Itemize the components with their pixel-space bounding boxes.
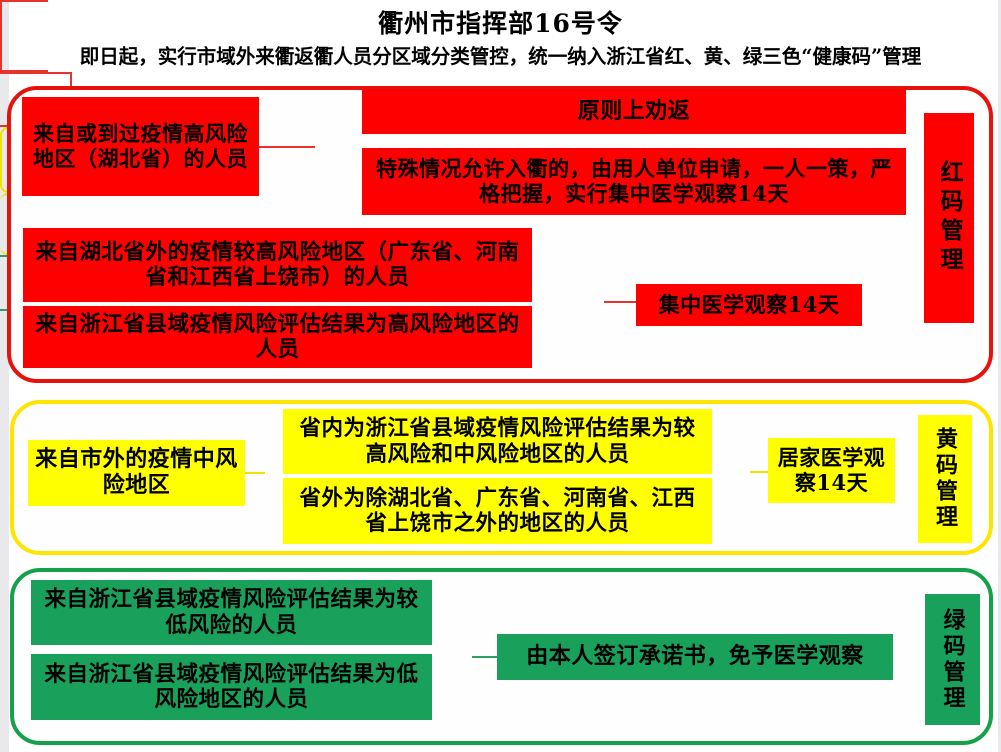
red-code-management-label: 红码管理 <box>932 160 966 276</box>
red-source-box-3: 来自浙江省县域疫情风险评估结果为高风险地区的人员 <box>23 306 532 368</box>
yellow-detail-box-1: 省内为浙江省县域疫情风险评估结果为较高风险和中风险地区的人员 <box>283 409 712 474</box>
infographic-canvas: 衢州市指挥部16号令 即日起，实行市域外来衢返衢人员分区域分类管控，统一纳入浙江… <box>0 0 1001 752</box>
yellow-detail-box-2: 省外为除湖北省、广东省、河南省、江西省上饶市之外的地区的人员 <box>283 478 712 544</box>
green-source-box-2: 来自浙江省县域疫情风险评估结果为低风险地区的人员 <box>31 654 432 720</box>
green-source-label-2: 来自浙江省县域疫情风险评估结果为低风险地区的人员 <box>37 662 426 713</box>
red-source-label-1: 来自或到过疫情高风险地区（湖北省）的人员 <box>28 122 253 172</box>
yellow-detail-label-2: 省外为除湖北省、广东省、河南省、江西省上饶市之外的地区的人员 <box>289 486 706 537</box>
green-measure-label-1: 由本人签订承诺书，免予医学观察 <box>526 644 864 670</box>
green-measure-box-1: 由本人签订承诺书，免予医学观察 <box>497 634 893 680</box>
yellow-source-box-1: 来自市外的疫情中风险地区 <box>28 440 245 506</box>
yellow-source-label-1: 来自市外的疫情中风险地区 <box>34 447 239 499</box>
yellow-connector-line-2 <box>750 471 768 473</box>
green-source-box-1: 来自浙江省县域疫情风险评估结果为较低风险的人员 <box>31 580 432 645</box>
red-source-box-2: 来自湖北省外的疫情较高风险地区（广东省、河南省和江西省上饶市）的人员 <box>23 228 532 302</box>
red-connector-line-2 <box>604 301 636 303</box>
yellow-code-management-box: 黄码管理 <box>918 415 972 543</box>
red-measure-label-3: 集中医学观察14天 <box>659 293 840 318</box>
yellow-connector-line-1 <box>245 472 265 474</box>
red-source-label-3: 来自浙江省县域疫情风险评估结果为高风险地区的人员 <box>29 312 526 363</box>
red-measure-box-3: 集中医学观察14天 <box>636 284 862 326</box>
green-connector-line-1 <box>472 656 497 658</box>
red-connector-line-1 <box>259 146 315 148</box>
green-code-management-label: 绿码管理 <box>937 608 969 712</box>
red-measure-box-2: 特殊情况允许入衢的，由用人单位申请，一人一策，严格把握，实行集中医学观察14天 <box>362 148 906 215</box>
page-subtitle: 即日起，实行市域外来衢返衢人员分区域分类管控，统一纳入浙江省红、黄、绿三色“健康… <box>0 40 1001 69</box>
green-code-management-box: 绿码管理 <box>925 594 980 725</box>
red-source-box-1: 来自或到过疫情高风险地区（湖北省）的人员 <box>22 97 259 196</box>
yellow-measure-label-1: 居家医学观察14天 <box>774 446 889 496</box>
red-measure-label-2: 特殊情况允许入衢的，由用人单位申请，一人一策，严格把握，实行集中医学观察14天 <box>368 157 900 207</box>
red-code-management-box: 红码管理 <box>924 113 974 323</box>
yellow-measure-box-1: 居家医学观察14天 <box>768 438 895 503</box>
red-source-label-2: 来自湖北省外的疫情较高风险地区（广东省、河南省和江西省上饶市）的人员 <box>29 240 526 291</box>
red-measure-label-1: 原则上劝返 <box>578 99 691 125</box>
yellow-code-management-label: 黄码管理 <box>929 427 961 531</box>
red-measure-box-1: 原则上劝返 <box>362 89 906 134</box>
green-source-label-1: 来自浙江省县域疫情风险评估结果为较低风险的人员 <box>37 587 426 638</box>
yellow-detail-label-1: 省内为浙江省县域疫情风险评估结果为较高风险和中风险地区的人员 <box>289 416 706 467</box>
page-title: 衢州市指挥部16号令 <box>0 4 1001 40</box>
